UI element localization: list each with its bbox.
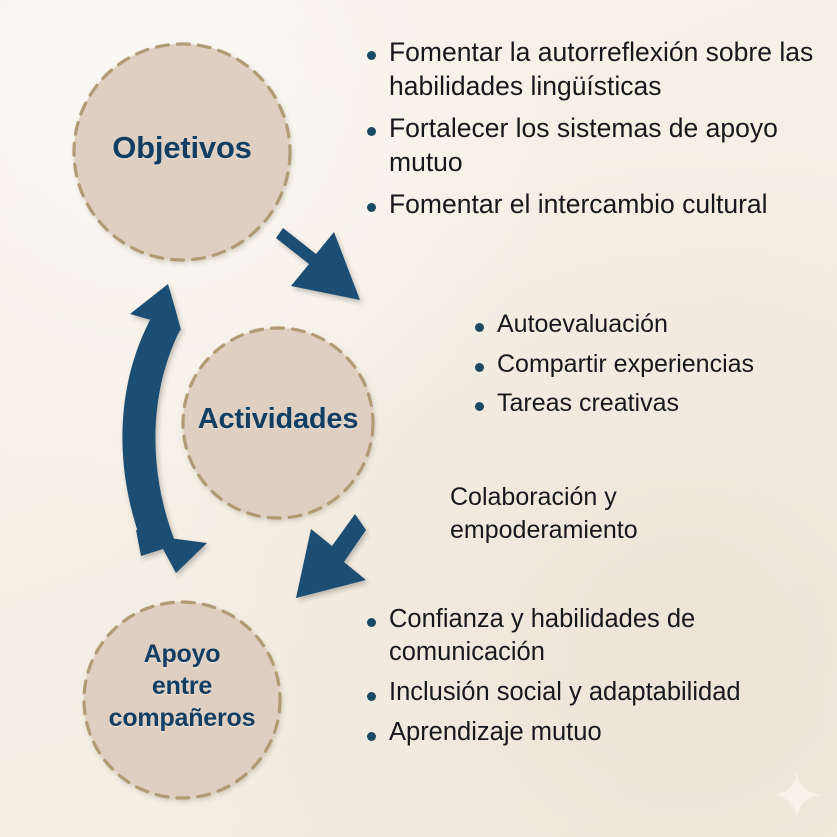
apoyo-circle-shape: [84, 602, 280, 798]
list-item: Autoevaluación: [470, 308, 837, 341]
list-item: Tareas creativas: [470, 387, 837, 420]
arrow-actividades-to-apoyo: [296, 514, 366, 598]
objetivos-bullet-list: Fomentar la autorreflexión sobre las hab…: [362, 35, 837, 221]
objetivos-circle-shape: [74, 44, 290, 260]
list-item: Aprendizaje mutuo: [362, 716, 832, 749]
list-item: Inclusión social y adaptabilidad: [362, 676, 832, 709]
node-circle-objetivos[interactable]: [74, 44, 290, 260]
arrow-objetivos-to-actividades: [276, 228, 360, 300]
diagram-canvas: Objetivos Actividades Apoyo entre compañ…: [0, 0, 837, 837]
apoyo-bullet-list: Confianza y habilidades de comunicación …: [362, 603, 832, 750]
objetivos-bullet-list-container: Fomentar la autorreflexión sobre las hab…: [362, 35, 837, 228]
node-circle-actividades[interactable]: [183, 328, 373, 518]
colaboracion-note: Colaboración y empoderamiento: [450, 481, 780, 548]
list-item: Confianza y habilidades de comunicación: [362, 603, 832, 669]
list-item: Compartir experiencias: [470, 348, 837, 381]
actividades-circle-shape: [183, 328, 373, 518]
actividades-bullet-list-container: Autoevaluación Compartir experiencias Ta…: [470, 308, 837, 427]
actividades-bullet-list: Autoevaluación Compartir experiencias Ta…: [470, 308, 837, 420]
node-circle-apoyo[interactable]: [84, 602, 280, 798]
list-item: Fomentar la autorreflexión sobre las hab…: [362, 35, 837, 104]
list-item: Fomentar el intercambio cultural: [362, 187, 837, 221]
apoyo-bullet-list-container: Confianza y habilidades de comunicación …: [362, 603, 832, 757]
list-item: Fortalecer los sistemas de apoyo mutuo: [362, 111, 837, 180]
